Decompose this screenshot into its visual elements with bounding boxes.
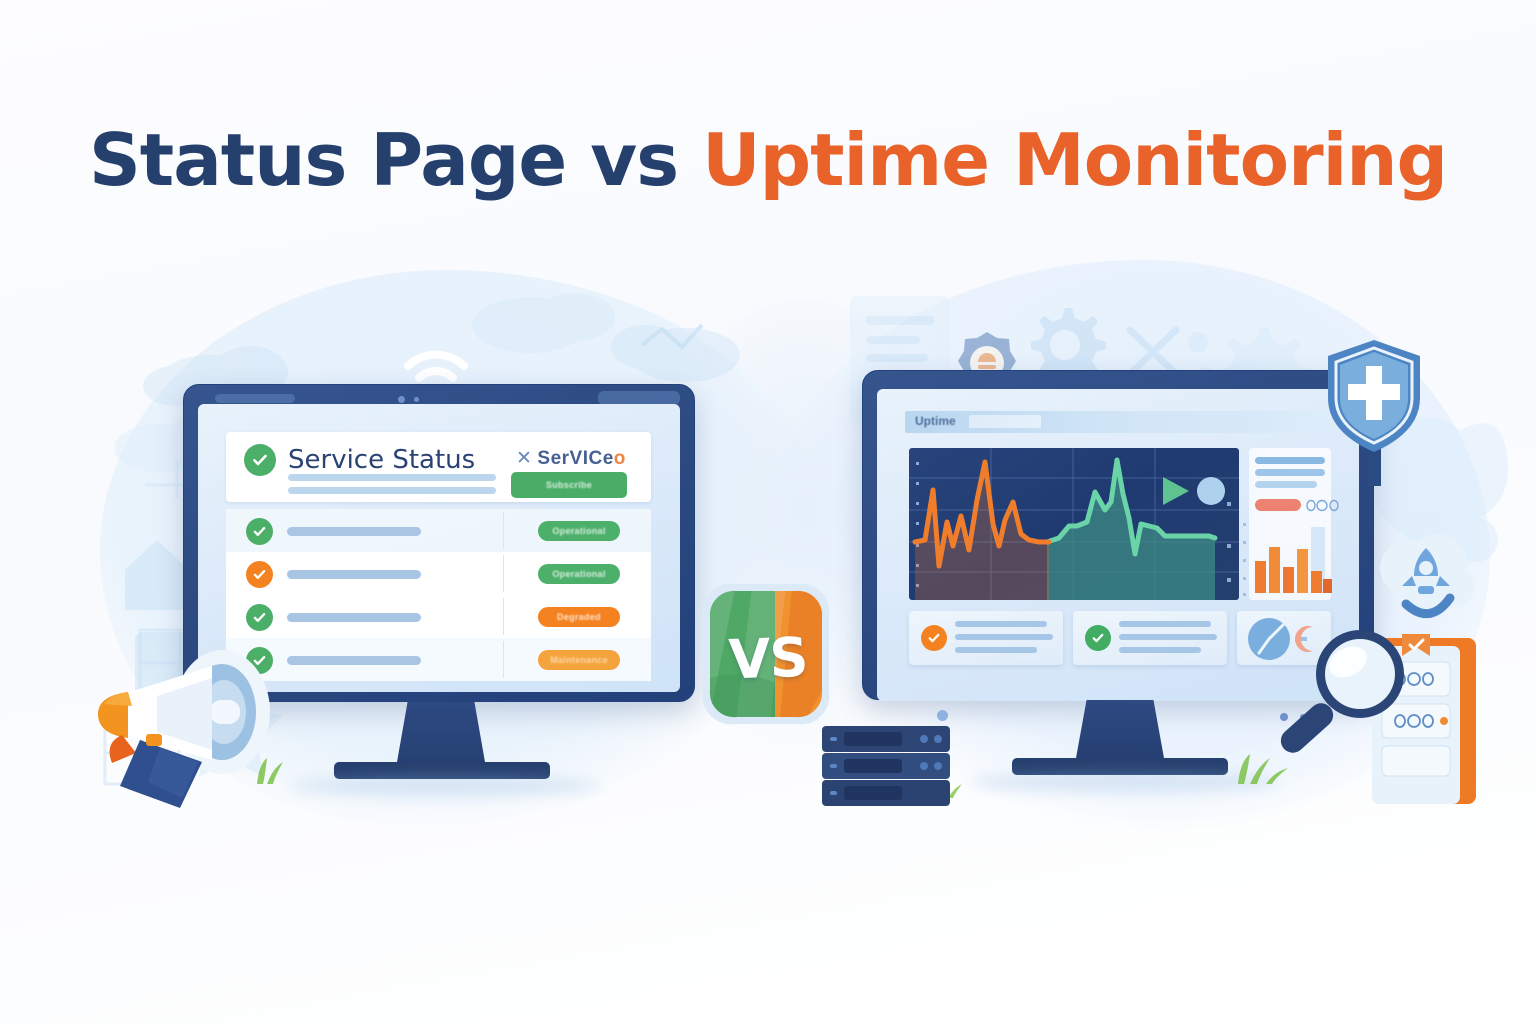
dashboard-nav-items — [969, 415, 1041, 428]
status-card-1-icon — [921, 625, 947, 651]
status-row-divider-4 — [503, 641, 504, 678]
status-row-pill-label-3: Degraded — [538, 612, 620, 622]
rocket-icon — [1370, 524, 1482, 634]
status-card-2-line-1 — [1119, 621, 1211, 627]
left-monitor-neck — [397, 702, 485, 762]
side-panel-alert-pill — [1255, 499, 1301, 511]
status-row-icon-1 — [246, 518, 273, 545]
page-title: Service Status — [288, 445, 475, 475]
server-rack-icon — [812, 724, 972, 810]
left-monitor-speaker — [215, 394, 295, 403]
header-check-icon — [244, 444, 276, 476]
illustration-canvas: Service Status ✕SerVICeo Subscribe Opera… — [0, 0, 1536, 1024]
status-card-2-line-3 — [1119, 647, 1201, 653]
status-row-divider-2 — [503, 555, 504, 592]
status-card-2-icon — [1085, 625, 1111, 651]
megaphone-icon — [62, 630, 352, 810]
status-row-label-2 — [287, 570, 421, 579]
side-panel-status-dots — [1305, 499, 1341, 512]
status-row-pill-label-4: Maintenance — [538, 655, 620, 665]
side-panel-tick-marks — [1241, 519, 1249, 599]
status-row-label-3 — [287, 613, 421, 622]
header-placeholder-line-1 — [288, 474, 496, 481]
side-panel-line-2 — [1255, 469, 1325, 476]
subscribe-button[interactable]: Subscribe — [511, 472, 627, 498]
vs-badge: VS — [683, 578, 849, 730]
title-part-one: Status Page vs — [89, 118, 702, 202]
header-placeholder-line-2 — [288, 487, 496, 494]
right-monitor-neck — [1076, 700, 1164, 758]
dashboard-nav-label: Uptime — [915, 414, 956, 428]
status-row-icon-3 — [246, 604, 273, 631]
shield-cross-icon — [1322, 336, 1426, 486]
magnifying-glass-icon — [1272, 620, 1422, 770]
status-row-pill-3: Degraded — [538, 607, 620, 627]
status-row-pill-2: Operational — [538, 564, 620, 584]
response-series — [909, 448, 1239, 600]
left-monitor-power-led — [598, 391, 680, 405]
status-card-1-line-2 — [955, 634, 1053, 640]
status-card-2-line-2 — [1119, 634, 1217, 640]
side-panel-line-3 — [1255, 481, 1317, 488]
right-monitor-led — [937, 710, 948, 721]
grass-decor-left — [245, 748, 305, 788]
side-panel-line-1 — [1255, 457, 1325, 464]
title-part-two: Uptime Monitoring — [702, 118, 1447, 202]
status-row-label-1 — [287, 527, 421, 536]
status-row-pill-label-1: Operational — [538, 526, 620, 536]
status-row-divider-3 — [503, 598, 504, 635]
subscribe-button-label: Subscribe — [511, 480, 627, 490]
vs-badge-label: VS — [682, 579, 853, 737]
left-monitor-led-2 — [414, 397, 419, 402]
status-row-divider-1 — [503, 512, 504, 549]
status-row-pill-1: Operational — [538, 521, 620, 541]
response-time-chart — [909, 448, 1239, 600]
left-monitor-led — [398, 396, 405, 403]
status-row-pill-4: Maintenance — [538, 650, 620, 670]
status-card-1-line-3 — [955, 647, 1037, 653]
uptime-bar-chart — [1253, 521, 1333, 597]
play-marker-icon — [1159, 473, 1229, 509]
status-row-icon-2 — [246, 561, 273, 588]
status-row-pill-label-2: Operational — [538, 569, 620, 579]
page-title-heading: Status Page vs Uptime Monitoring — [0, 118, 1536, 202]
status-card-1-line-1 — [955, 621, 1047, 627]
brand-logo-text: ✕SerVICeo — [516, 447, 626, 470]
